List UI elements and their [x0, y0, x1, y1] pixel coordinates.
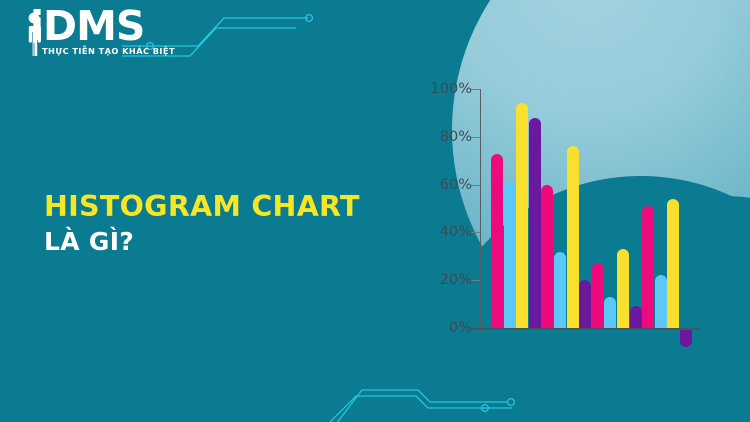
chart-bar: [504, 182, 516, 328]
chart-bar: [604, 297, 616, 328]
chart-bar: [617, 249, 629, 328]
page-title: HISTOGRAM CHART LÀ GÌ?: [44, 190, 404, 258]
chart-bar: [667, 199, 679, 328]
y-axis-tick-label: 60%: [424, 177, 472, 193]
chart-bar: [630, 306, 642, 328]
y-axis-tick-label: 100%: [424, 81, 472, 97]
chart-bar: [529, 118, 541, 328]
logo-tagline: THỰC TIỄN TẠO KHÁC BIỆT: [42, 46, 175, 56]
chart-bar: [579, 280, 591, 328]
chart-bar: [680, 328, 692, 347]
chart-bar: [655, 275, 667, 328]
y-axis-tick-label: 80%: [424, 129, 472, 145]
chart-bar: [554, 252, 566, 328]
brand-logo: iDMS THỰC TIỄN TẠO KHÁC BIỆT: [14, 6, 164, 58]
y-axis-tick-label: 40%: [424, 224, 472, 240]
page-title-line2: LÀ GÌ?: [44, 226, 404, 258]
chart-bar: [541, 185, 553, 328]
chart-bar: [491, 154, 503, 328]
chart-bar: [592, 263, 604, 328]
y-axis-line: [480, 89, 481, 332]
y-axis-tick-label: 20%: [424, 272, 472, 288]
chart-bar: [642, 206, 654, 328]
chart-bar: [516, 103, 528, 328]
page-title-line1: HISTOGRAM CHART: [44, 190, 404, 224]
x-axis-baseline: [471, 328, 700, 330]
logo-wordmark: iDMS: [30, 6, 144, 47]
chart-bar: [567, 146, 579, 328]
y-axis-tick-label: 0%: [424, 320, 472, 336]
slide-canvas: iDMS THỰC TIỄN TẠO KHÁC BIỆT HISTOGRAM C…: [0, 0, 750, 422]
histogram-chart: 100%80%60%40%20%0%: [424, 72, 734, 347]
